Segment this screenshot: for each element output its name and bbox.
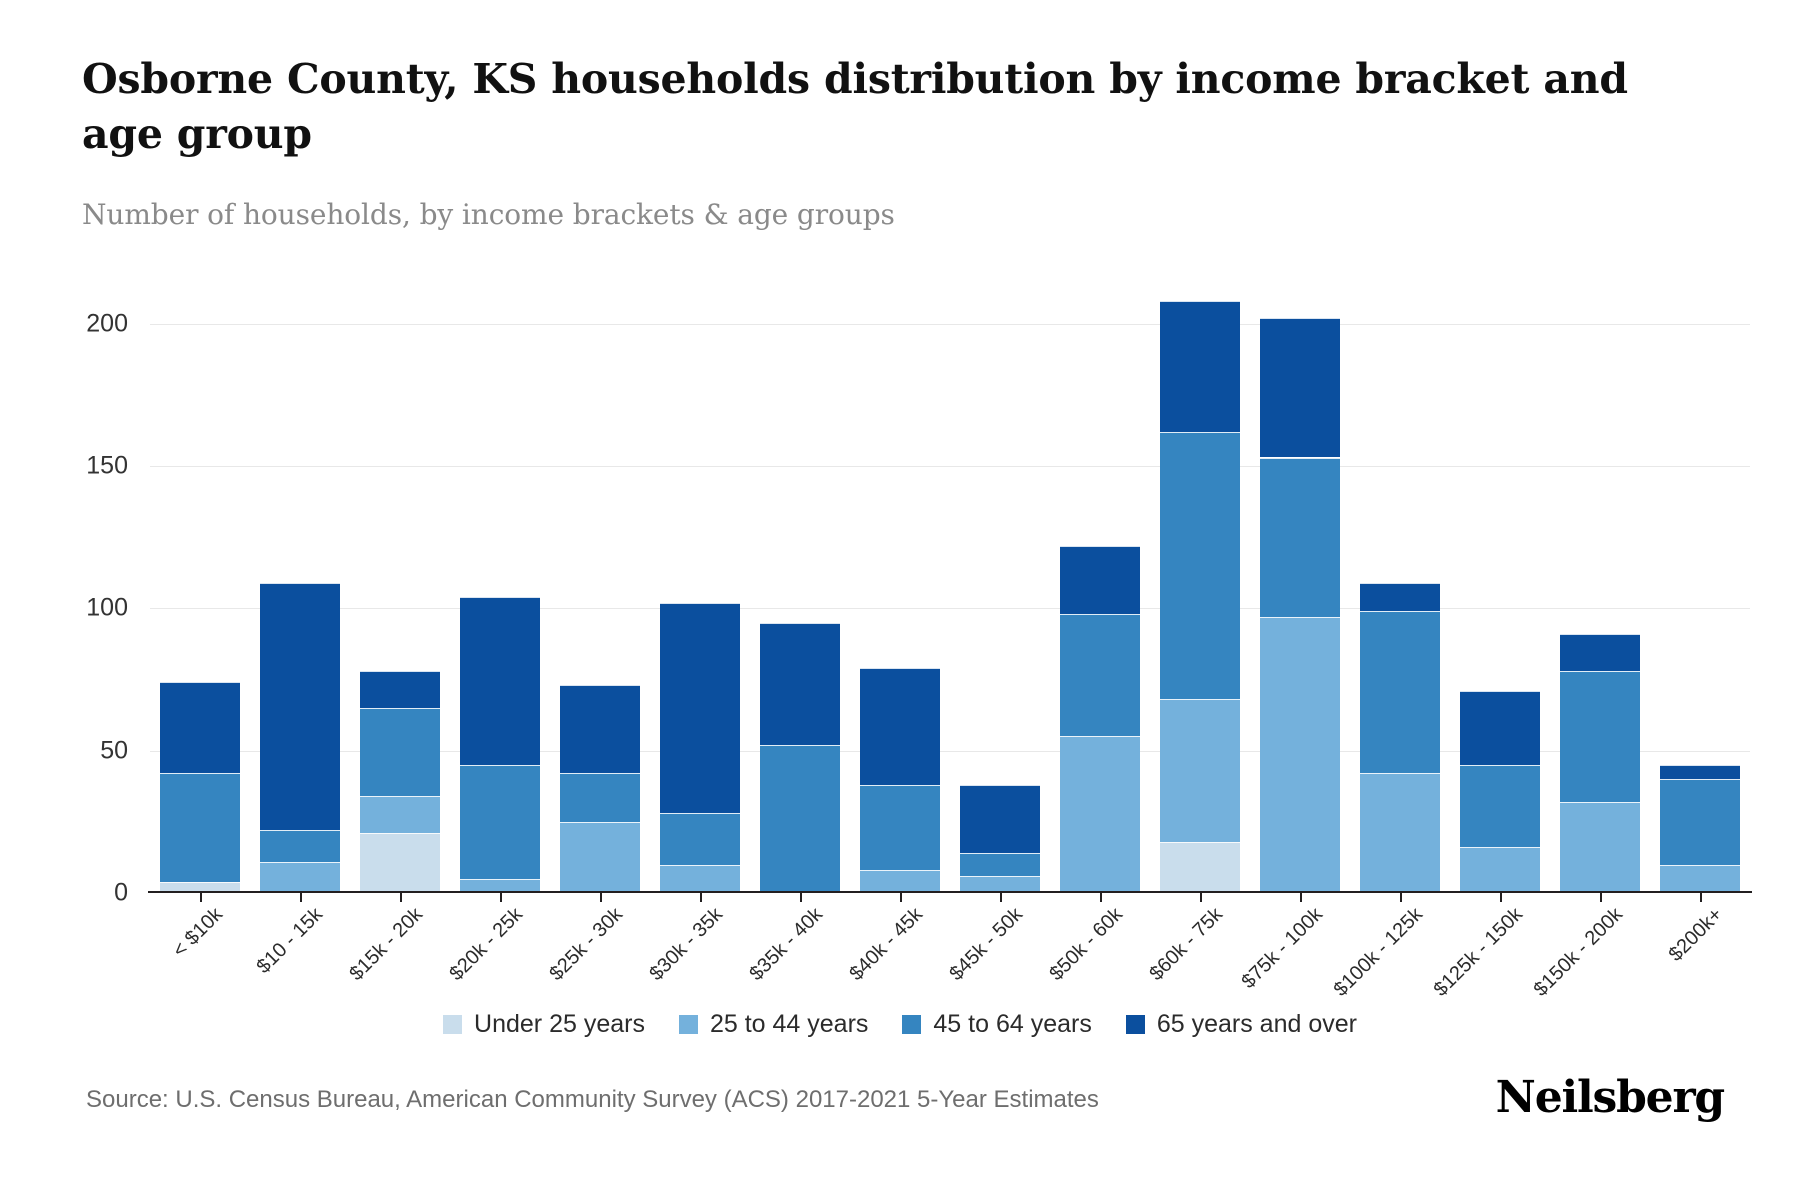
x-axis-label-text: $35k - 40k: [745, 903, 827, 985]
chart-legend: Under 25 years25 to 44 years45 to 64 yea…: [0, 1010, 1800, 1039]
x-axis-tickmark: [1700, 893, 1702, 902]
bar-segment[interactable]: [460, 597, 540, 765]
x-axis-label-text: $30k - 35k: [645, 903, 727, 985]
bar-segment[interactable]: [760, 623, 840, 745]
bar-segment[interactable]: [160, 682, 240, 773]
bar-group[interactable]: [1160, 281, 1240, 893]
legend-label: 65 years and over: [1157, 1010, 1357, 1039]
x-axis-tickmark: [1500, 893, 1502, 902]
x-axis-tickmark: [1000, 893, 1002, 902]
x-axis-label-text: $40k - 45k: [845, 903, 927, 985]
brand-logo: Neilsberg: [1496, 1072, 1724, 1123]
bar-group[interactable]: [1560, 281, 1640, 893]
legend-swatch-icon: [1126, 1015, 1145, 1034]
y-axis-tick-label: 0: [8, 879, 128, 908]
x-axis-label-text: $200k+: [1665, 903, 1728, 966]
bar-group[interactable]: [760, 281, 840, 893]
bar-group[interactable]: [560, 281, 640, 893]
page-subtitle: Number of households, by income brackets…: [82, 198, 895, 231]
bar-segment[interactable]: [360, 796, 440, 833]
bar-segment[interactable]: [1560, 671, 1640, 802]
bar-segment[interactable]: [1360, 611, 1440, 773]
legend-swatch-icon: [679, 1015, 698, 1034]
bar-group[interactable]: [960, 281, 1040, 893]
bar-segment[interactable]: [1160, 301, 1240, 432]
bar-segment[interactable]: [360, 671, 440, 708]
bar-group[interactable]: [460, 281, 540, 893]
bar-group[interactable]: [260, 281, 340, 893]
bar-group[interactable]: [360, 281, 440, 893]
legend-label: 25 to 44 years: [710, 1010, 868, 1039]
legend-item[interactable]: 25 to 44 years: [679, 1010, 868, 1039]
x-axis-tickmark: [1600, 893, 1602, 902]
chart-page: Osborne County, KS households distributi…: [0, 0, 1800, 1200]
bar-segment[interactable]: [1160, 432, 1240, 700]
bar-segment[interactable]: [260, 830, 340, 861]
x-axis-tickmark: [1100, 893, 1102, 902]
x-axis-label-text: $10 - 15k: [252, 903, 327, 978]
legend-item[interactable]: 45 to 64 years: [902, 1010, 1091, 1039]
x-axis-tickmark: [1300, 893, 1302, 902]
x-axis-label-text: $60k - 75k: [1145, 903, 1227, 985]
x-axis-label-text: $50k - 60k: [1045, 903, 1127, 985]
legend-swatch-icon: [443, 1015, 462, 1034]
x-axis-tickmark: [500, 893, 502, 902]
x-axis-label-text: $100k - 125k: [1330, 903, 1428, 1001]
x-axis-tickmark: [700, 893, 702, 902]
bar-segment[interactable]: [1660, 765, 1740, 779]
bar-group[interactable]: [1660, 281, 1740, 893]
bar-segment[interactable]: [1360, 773, 1440, 893]
source-note: Source: U.S. Census Bureau, American Com…: [86, 1086, 1099, 1114]
x-axis-tickmark: [1400, 893, 1402, 902]
x-axis-tickmark: [300, 893, 302, 902]
bar-segment[interactable]: [1060, 546, 1140, 614]
bar-group[interactable]: [1260, 281, 1340, 893]
bar-segment[interactable]: [160, 773, 240, 881]
bar-segment[interactable]: [860, 668, 940, 785]
y-axis-tick-label: 100: [8, 594, 128, 623]
bar-group[interactable]: [160, 281, 240, 893]
x-axis-tickmark: [600, 893, 602, 902]
legend-label: 45 to 64 years: [933, 1010, 1091, 1039]
x-axis-label-text: $125k - 150k: [1430, 903, 1528, 1001]
bar-segment[interactable]: [1160, 699, 1240, 841]
x-axis-tickmark: [900, 893, 902, 902]
plot-area: 050100150200: [150, 281, 1750, 893]
page-title: Osborne County, KS households distributi…: [82, 52, 1702, 161]
bar-segment[interactable]: [1260, 318, 1340, 457]
x-axis-tickmark: [200, 893, 202, 902]
x-axis-label-text: $25k - 30k: [545, 903, 627, 985]
y-axis-tick-label: 200: [8, 309, 128, 338]
legend-swatch-icon: [902, 1015, 921, 1034]
x-axis-label-text: < $10k: [169, 903, 228, 962]
x-axis-label-text: $45k - 50k: [945, 903, 1027, 985]
y-axis-tick-label: 150: [8, 452, 128, 481]
bar-group[interactable]: [1460, 281, 1540, 893]
bar-segment[interactable]: [360, 708, 440, 796]
x-axis-label-text: $15k - 20k: [345, 903, 427, 985]
bar-segment[interactable]: [1560, 634, 1640, 671]
x-axis-label-text: $20k - 25k: [445, 903, 527, 985]
bar-segment[interactable]: [1360, 583, 1440, 611]
bar-group[interactable]: [860, 281, 940, 893]
bar-segment[interactable]: [560, 685, 640, 773]
x-axis-tickmark: [400, 893, 402, 902]
bar-segment[interactable]: [1060, 614, 1140, 736]
legend-item[interactable]: Under 25 years: [443, 1010, 645, 1039]
bar-segment[interactable]: [560, 773, 640, 821]
bar-group[interactable]: [660, 281, 740, 893]
bar-group[interactable]: [1060, 281, 1140, 893]
y-axis-tick-label: 50: [8, 736, 128, 765]
x-axis-label-text: $75k - 100k: [1238, 903, 1328, 993]
x-axis-tickmark: [800, 893, 802, 902]
bar-segment[interactable]: [260, 583, 340, 831]
x-axis-tickmark: [1200, 893, 1202, 902]
bar-segment[interactable]: [1260, 458, 1340, 617]
bar-segment[interactable]: [1460, 691, 1540, 765]
bar-group[interactable]: [1360, 281, 1440, 893]
legend-label: Under 25 years: [474, 1010, 645, 1039]
x-axis-label-text: $150k - 200k: [1530, 903, 1628, 1001]
bar-segment[interactable]: [660, 603, 740, 814]
legend-item[interactable]: 65 years and over: [1126, 1010, 1357, 1039]
